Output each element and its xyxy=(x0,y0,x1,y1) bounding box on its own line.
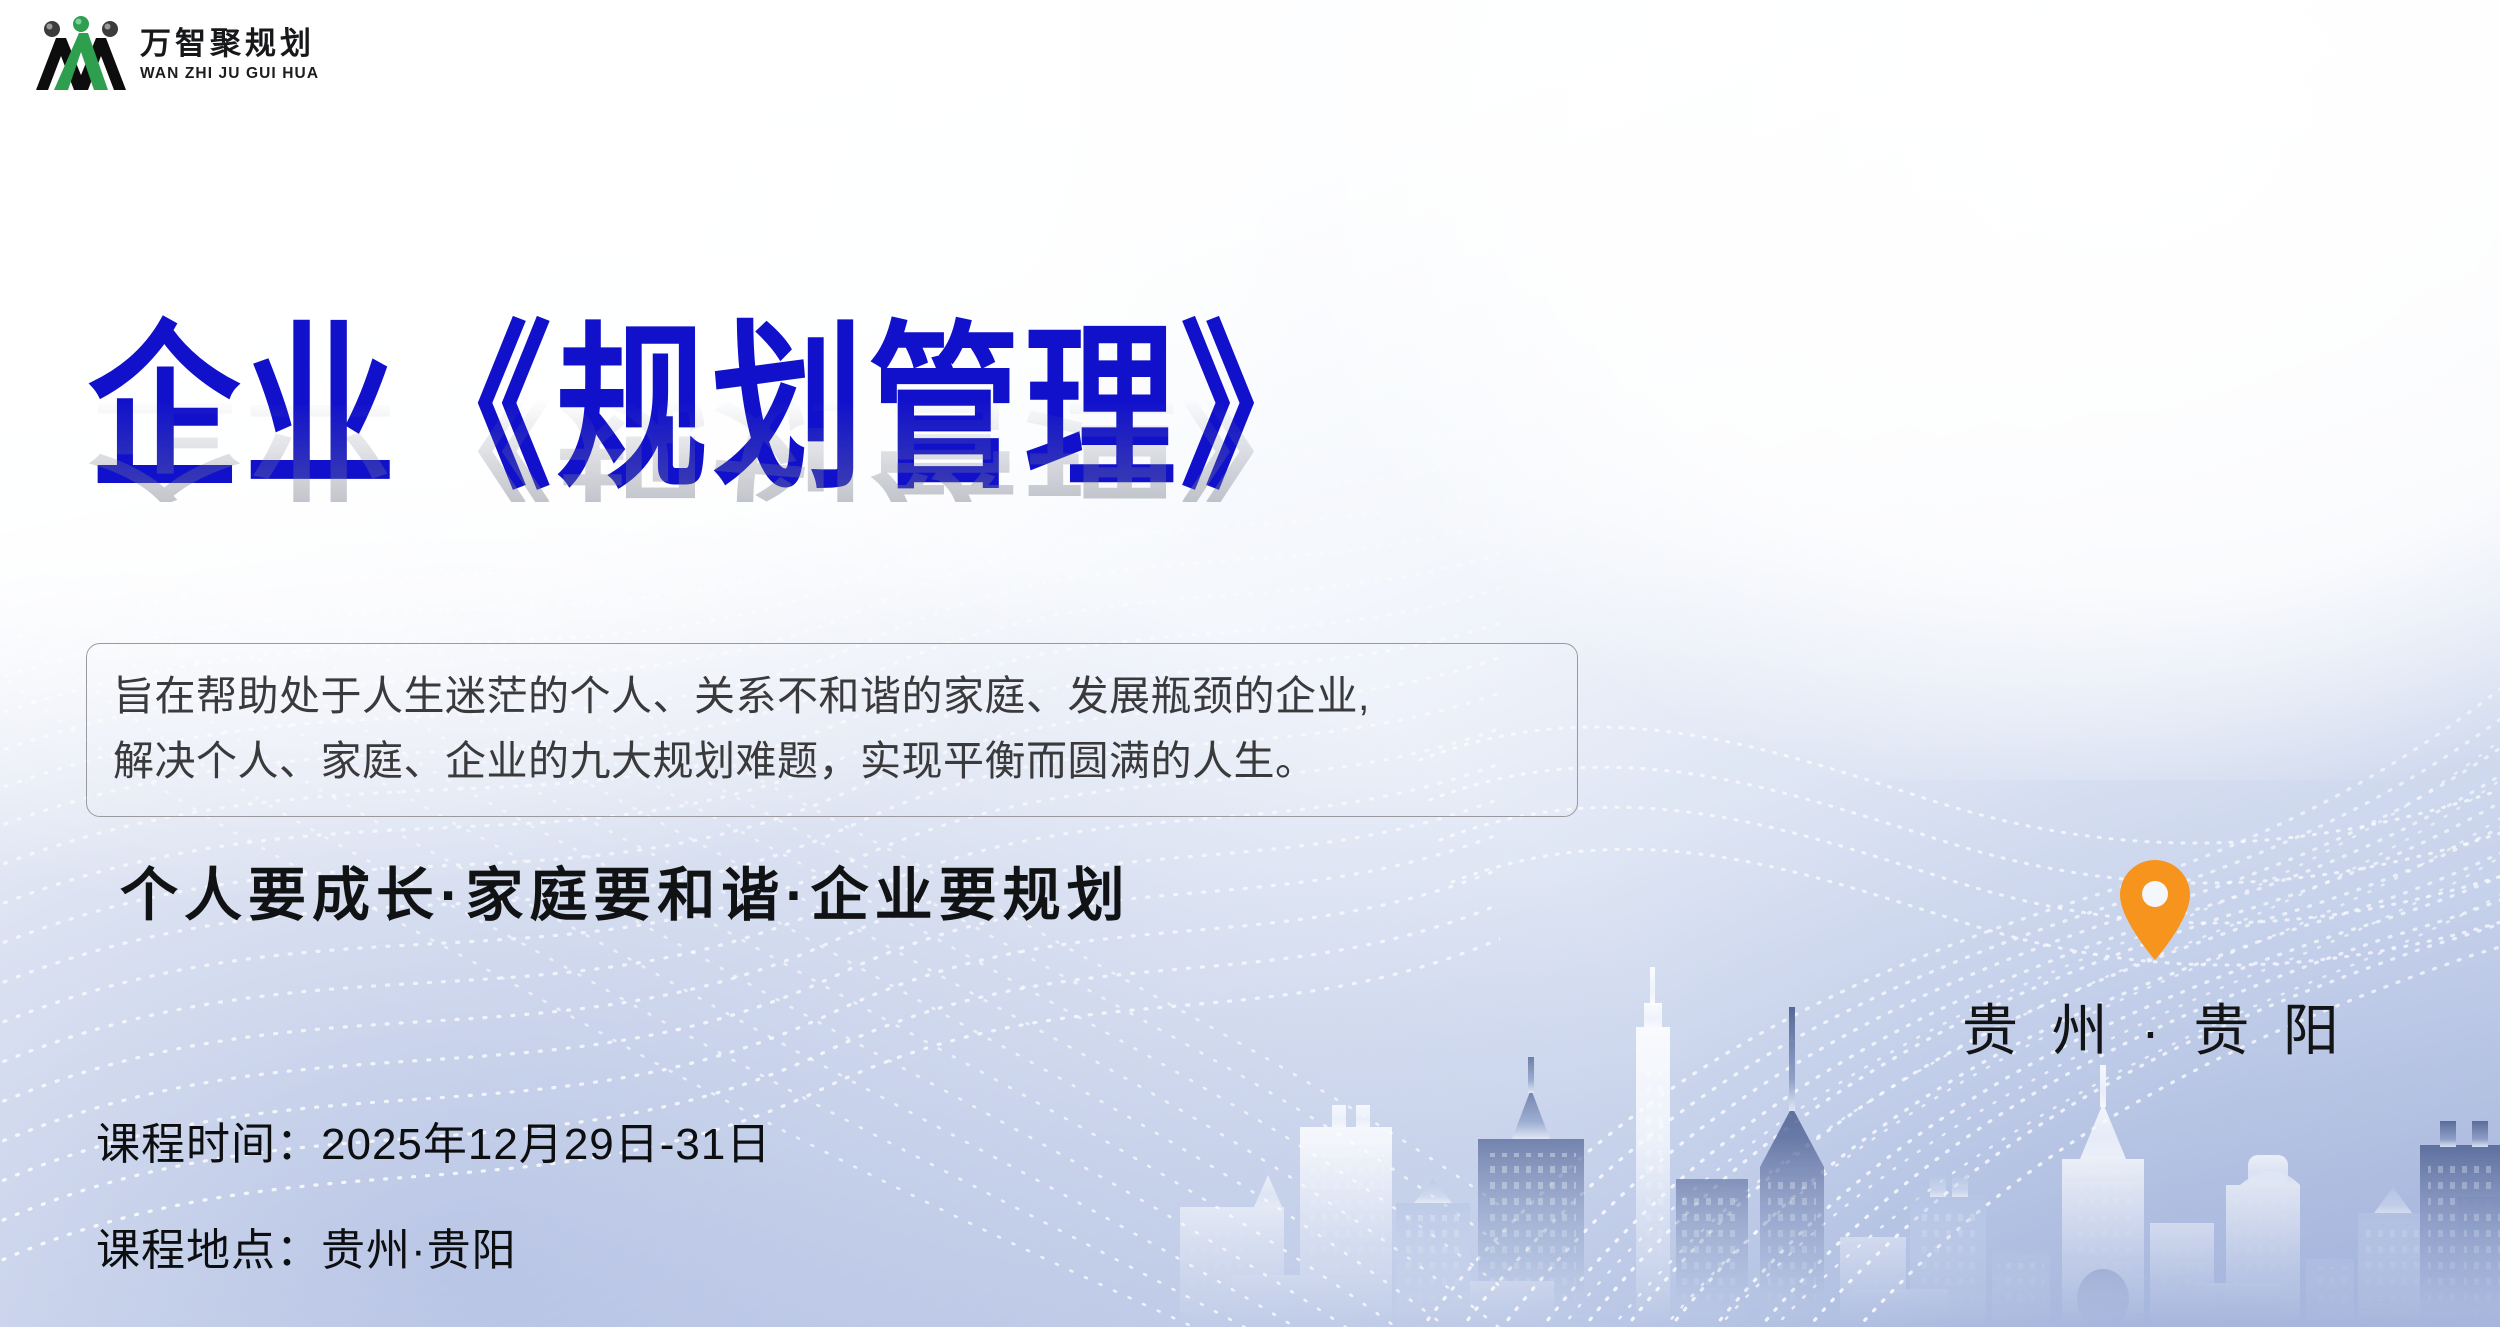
slogan-text: 个人要成长·家庭要和谐·企业要规划 xyxy=(120,848,1131,932)
course-place: 课程地点：贵州·贵阳 xyxy=(96,1214,771,1278)
brand-logo: 万智聚规划 WAN ZHI JU GUI HUA xyxy=(36,16,319,94)
course-info-block: 课程时间：2025年12月29日-31日 课程地点：贵州·贵阳 xyxy=(96,1108,771,1278)
description-line-2: 解决个人、家庭、企业的九大规划难题，实现平衡而圆满的人生。 xyxy=(113,729,1551,794)
description-line-1: 旨在帮助处于人生迷茫的个人、关系不和谐的家庭、发展瓶颈的企业, xyxy=(113,664,1551,729)
map-pin-icon xyxy=(2117,858,2193,962)
description-box: 旨在帮助处于人生迷茫的个人、关系不和谐的家庭、发展瓶颈的企业, 解决个人、家庭、… xyxy=(86,643,1578,817)
three-people-m-logo-icon xyxy=(36,16,126,94)
brand-text: 万智聚规划 WAN ZHI JU GUI HUA xyxy=(140,28,319,82)
brand-name-pinyin: WAN ZHI JU GUI HUA xyxy=(140,66,319,82)
poster-canvas: 万智聚规划 WAN ZHI JU GUI HUA 企业《规划管理》 企业《规划管… xyxy=(0,0,2500,1327)
hero-title-block: 企业《规划管理》 企业《规划管理》 xyxy=(88,320,1336,472)
location-label: 贵 州 · 贵 阳 xyxy=(1962,986,2348,1067)
location-block: 贵 州 · 贵 阳 xyxy=(1955,858,2355,1067)
page-title-reflection: 企业《规划管理》 xyxy=(88,393,1336,502)
course-time: 课程时间：2025年12月29日-31日 xyxy=(96,1108,771,1172)
brand-name-cn: 万智聚规划 xyxy=(140,28,319,59)
